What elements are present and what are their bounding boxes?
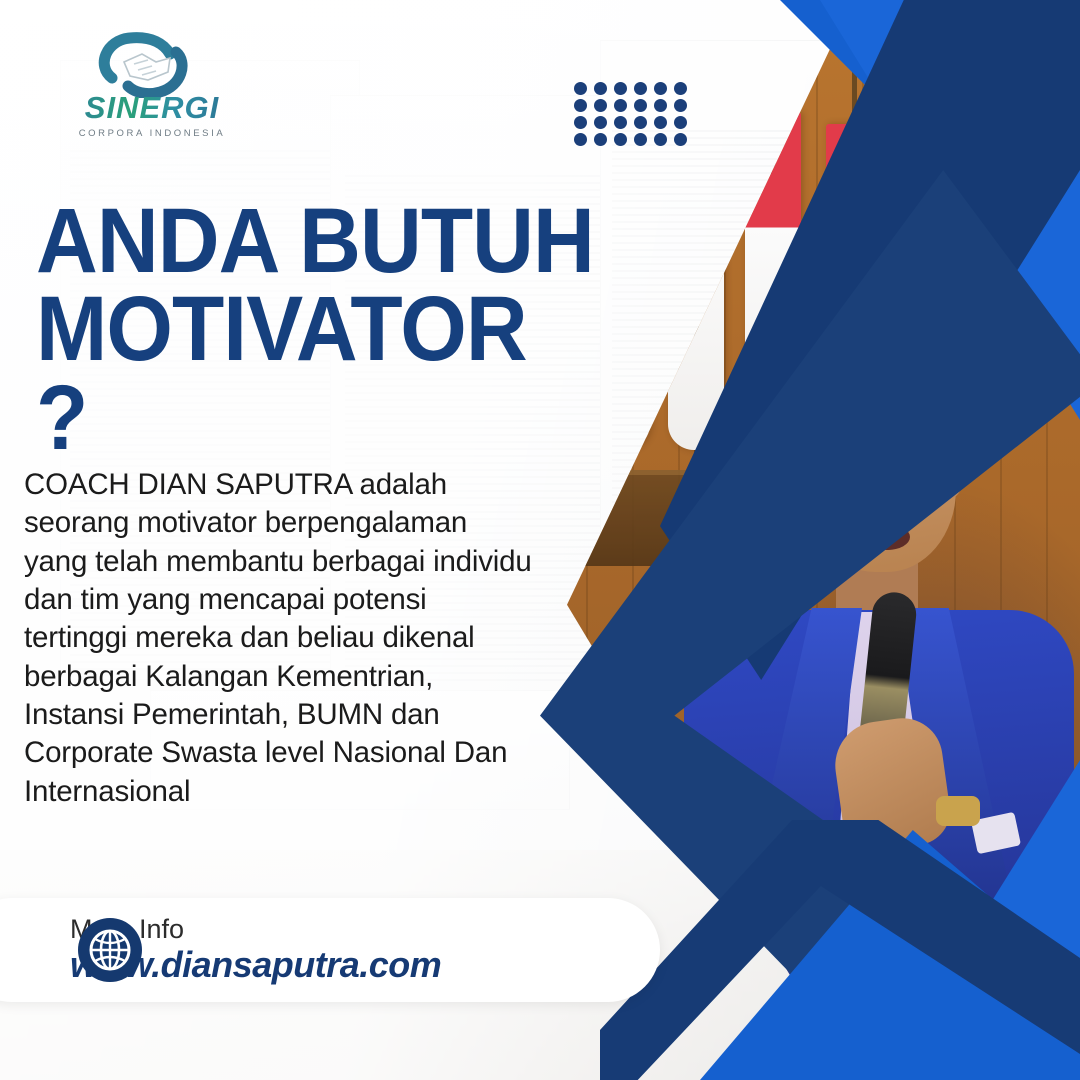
headline-line-1: ANDA BUTUH (36, 190, 594, 292)
headline: ANDA BUTUH MOTIVATOR ? (36, 197, 594, 462)
brand-logo[interactable]: SINERGI CORPORA INDONESIA (62, 32, 242, 150)
logo-tagline: CORPORA INDONESIA (62, 128, 242, 139)
handshake-swirl-icon (90, 32, 200, 98)
headline-line-2: MOTIVATOR ? (36, 285, 594, 462)
dot-grid-decoration (574, 82, 694, 150)
poster-canvas: SINERGI CORPORA INDONESIA ANDA BUTUH MOT… (0, 0, 1080, 1080)
globe-icon (78, 918, 142, 982)
logo-wordmark: SINERGI (62, 92, 242, 123)
body-paragraph: COACH DIAN SAPUTRA adalah seorang motiva… (24, 466, 532, 811)
